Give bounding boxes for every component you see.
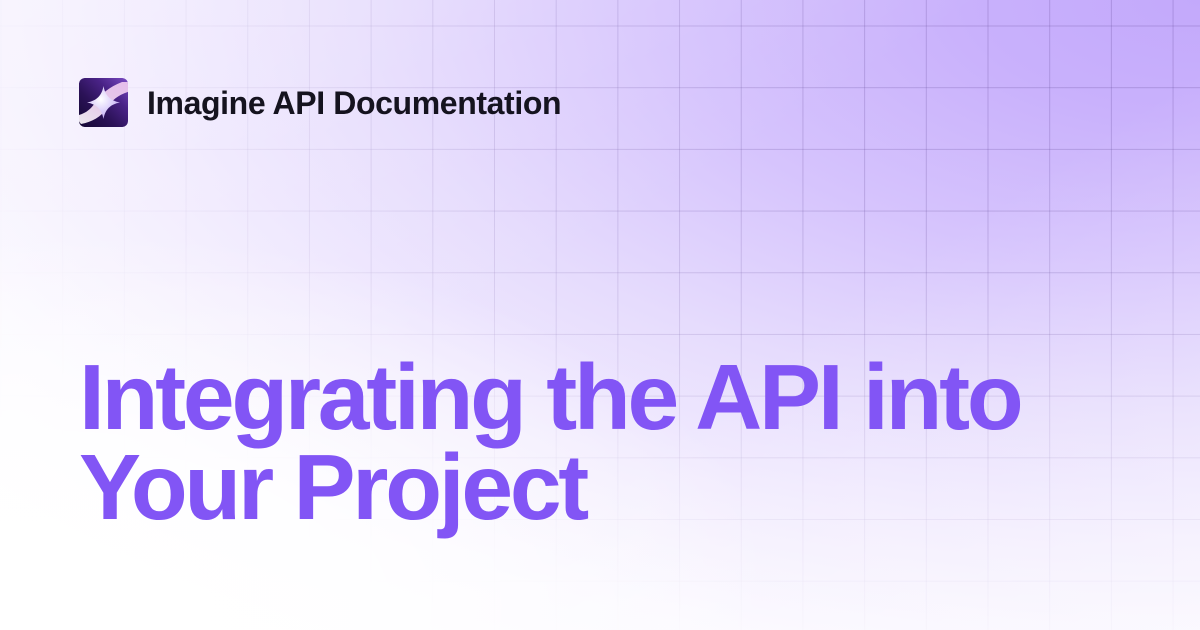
page-title: Integrating the API into Your Project xyxy=(79,352,1139,532)
social-share-card: Imagine API Documentation Integrating th… xyxy=(0,0,1200,630)
brand-lockup: Imagine API Documentation xyxy=(79,78,561,127)
imagine-sparkle-logo-icon xyxy=(79,78,128,127)
card-content: Imagine API Documentation Integrating th… xyxy=(0,0,1200,630)
brand-title: Imagine API Documentation xyxy=(147,87,561,119)
